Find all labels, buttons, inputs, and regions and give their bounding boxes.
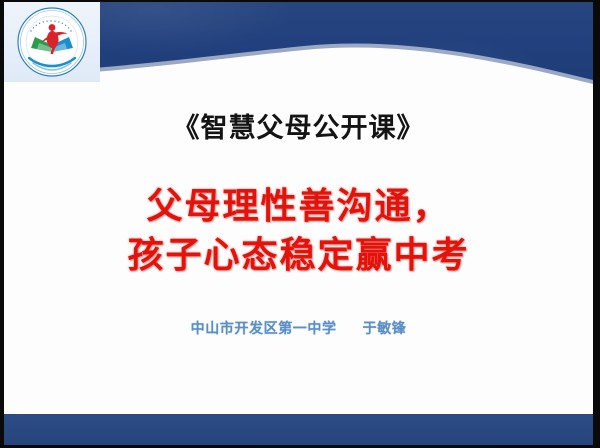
course-series-title: 《智慧父母公开课》 bbox=[4, 106, 593, 145]
main-title-line-1: 父母理性善沟通， bbox=[4, 182, 593, 231]
presentation-slide: 《智慧父母公开课》 父母理性善沟通， 孩子心态稳定赢中考 中山市开发区第一中学于… bbox=[0, 0, 600, 448]
slide-footer-bar bbox=[4, 414, 593, 445]
slide-header-banner bbox=[4, 2, 593, 94]
slide-canvas: 《智慧父母公开课》 父母理性善沟通， 孩子心态稳定赢中考 中山市开发区第一中学于… bbox=[4, 2, 593, 445]
presenter-school: 中山市开发区第一中学 bbox=[191, 321, 337, 337]
main-title-line-2: 孩子心态稳定赢中考 bbox=[4, 231, 593, 280]
main-title-block: 父母理性善沟通， 孩子心态稳定赢中考 bbox=[4, 182, 593, 280]
presenter-name: 于敏锋 bbox=[363, 321, 407, 337]
presenter-line: 中山市开发区第一中学于敏锋 bbox=[4, 318, 593, 338]
school-logo-plate bbox=[4, 2, 100, 82]
school-emblem-logo-icon bbox=[13, 6, 91, 78]
